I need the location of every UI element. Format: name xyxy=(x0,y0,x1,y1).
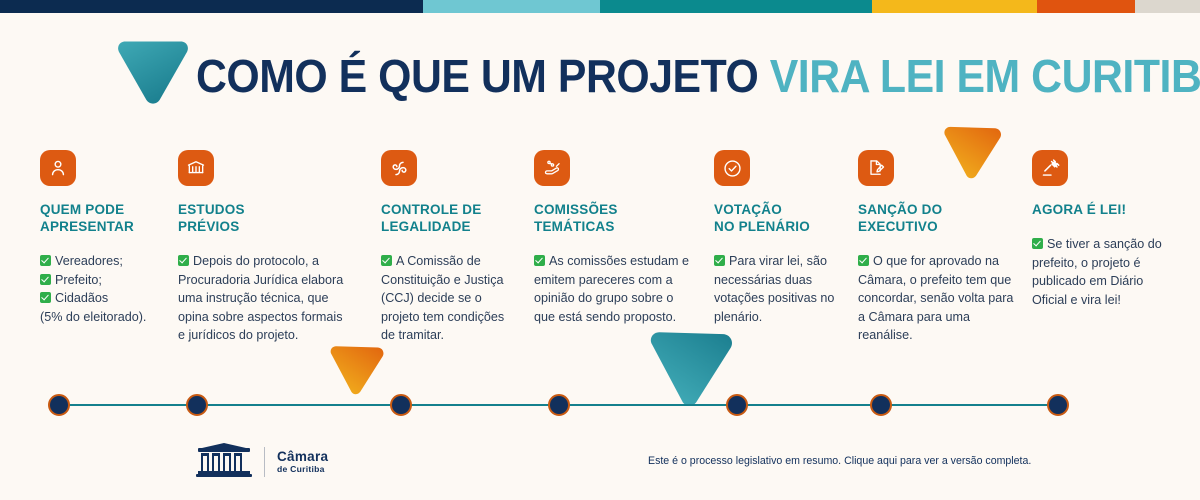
check-icon xyxy=(1032,238,1043,249)
top-color-bar xyxy=(0,0,1200,13)
hand-review-icon xyxy=(534,150,570,186)
step-bullet: A Comissão de Constituição e Justiça (CC… xyxy=(381,252,521,345)
step-body-4: As comissões estudam e emitem pareceres … xyxy=(534,252,694,326)
triangle-teal-large-header xyxy=(116,40,190,105)
check-icon xyxy=(40,274,51,285)
step-title-4: COMISSÕES TEMÁTICAS xyxy=(534,201,694,235)
footnote-text[interactable]: Este é o processo legislativo em resumo.… xyxy=(648,454,1068,468)
step-title-2: ESTUDOS PRÉVIOS xyxy=(178,201,350,235)
check-icon xyxy=(858,255,869,266)
step-bullet: As comissões estudam e emitem pareceres … xyxy=(534,252,694,326)
check-icon xyxy=(40,255,51,266)
step-column-7: AGORA É LEI!Se tiver a sanção do prefeit… xyxy=(1032,150,1172,309)
topbar-segment-yellow xyxy=(872,0,1037,13)
step-column-1: QUEM PODE APRESENTARVereadores;Prefeito;… xyxy=(40,150,165,326)
step-body-1: Vereadores;Prefeito;Cidadãos(5% do eleit… xyxy=(40,252,165,326)
page-title: COMO É QUE UM PROJETO VIRA LEI EM CURITI… xyxy=(196,50,1056,102)
page-title-part-teal: VIRA LEI EM CURITIBA xyxy=(770,50,1200,102)
step-bullet: Depois do protocolo, a Procuradoria Jurí… xyxy=(178,252,350,345)
timeline-dot-4[interactable] xyxy=(548,394,570,416)
step-title-7: AGORA É LEI! xyxy=(1032,201,1172,218)
step-body-7: Se tiver a sanção do prefeito, o projeto… xyxy=(1032,235,1172,309)
document-pen-icon xyxy=(858,150,894,186)
step-column-6: SANÇÃO DO EXECUTIVOO que for aprovado na… xyxy=(858,150,1018,345)
gavel-icon xyxy=(1032,150,1068,186)
step-column-2: ESTUDOS PRÉVIOSDepois do protocolo, a Pr… xyxy=(178,150,350,345)
check-icon xyxy=(714,255,725,266)
page-title-part-navy: COMO É QUE UM PROJETO xyxy=(196,50,758,102)
logo-line-2: de Curitiba xyxy=(277,465,328,474)
steps-container: QUEM PODE APRESENTARVereadores;Prefeito;… xyxy=(0,150,1200,350)
step-column-4: COMISSÕES TEMÁTICASAs comissões estudam … xyxy=(534,150,694,326)
step-bullet: Cidadãos xyxy=(40,289,165,308)
topbar-segment-light-teal xyxy=(423,0,600,13)
check-icon xyxy=(381,255,392,266)
step-note: (5% do eleitorado). xyxy=(40,308,165,327)
step-column-5: VOTAÇÃO NO PLENÁRIOPara virar lei, são n… xyxy=(714,150,849,326)
topbar-segment-gray xyxy=(1135,0,1200,13)
camara-building-icon xyxy=(196,442,252,483)
check-circle-icon xyxy=(714,150,750,186)
step-body-6: O que for aprovado na Câmara, o prefeito… xyxy=(858,252,1018,345)
person-icon xyxy=(40,150,76,186)
step-bullet: Vereadores; xyxy=(40,252,165,271)
step-column-3: CONTROLE DE LEGALIDADEA Comissão de Cons… xyxy=(381,150,521,345)
topbar-segment-teal xyxy=(600,0,872,13)
logo-line-1: Câmara xyxy=(277,450,328,465)
timeline-dot-6[interactable] xyxy=(870,394,892,416)
check-icon xyxy=(178,255,189,266)
camara-logo: Câmara de Curitiba xyxy=(196,440,328,484)
process-timeline xyxy=(0,394,1200,418)
step-bullet: Se tiver a sanção do prefeito, o projeto… xyxy=(1032,235,1172,309)
step-body-5: Para virar lei, são necessárias duas vot… xyxy=(714,252,849,326)
step-title-5: VOTAÇÃO NO PLENÁRIO xyxy=(714,201,849,235)
timeline-dot-7[interactable] xyxy=(1047,394,1069,416)
topbar-segment-navy xyxy=(0,0,423,13)
scroll-legality-icon xyxy=(381,150,417,186)
step-title-6: SANÇÃO DO EXECUTIVO xyxy=(858,201,1018,235)
step-title-3: CONTROLE DE LEGALIDADE xyxy=(381,201,521,235)
topbar-segment-orange xyxy=(1037,0,1135,13)
timeline-dot-1[interactable] xyxy=(48,394,70,416)
logo-divider xyxy=(264,447,265,477)
step-bullet: Para virar lei, são necessárias duas vot… xyxy=(714,252,849,326)
check-icon xyxy=(534,255,545,266)
step-bullet: Prefeito; xyxy=(40,271,165,290)
timeline-dot-2[interactable] xyxy=(186,394,208,416)
step-body-3: A Comissão de Constituição e Justiça (CC… xyxy=(381,252,521,345)
step-body-2: Depois do protocolo, a Procuradoria Jurí… xyxy=(178,252,350,345)
timeline-dot-5[interactable] xyxy=(726,394,748,416)
step-bullet: O que for aprovado na Câmara, o prefeito… xyxy=(858,252,1018,345)
check-icon xyxy=(40,292,51,303)
institution-book-icon xyxy=(178,150,214,186)
step-title-1: QUEM PODE APRESENTAR xyxy=(40,201,165,235)
timeline-dot-3[interactable] xyxy=(390,394,412,416)
